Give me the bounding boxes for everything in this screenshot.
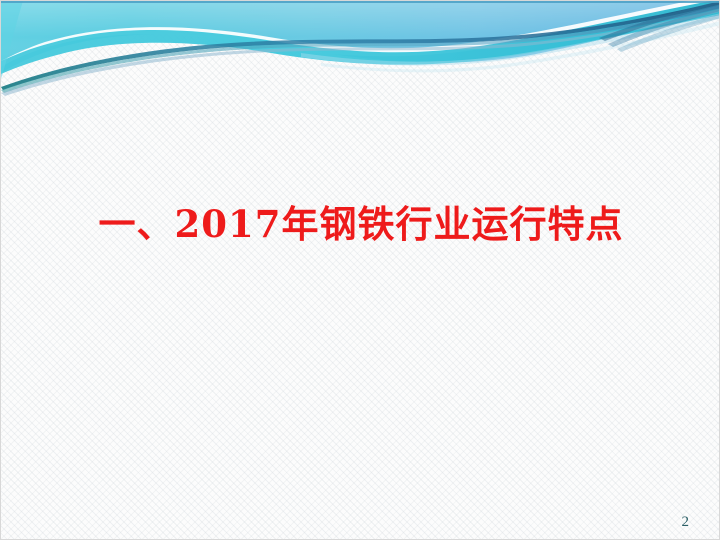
wave-banner — [1, 1, 720, 97]
title-block: 一、2017年钢铁行业运行特点 — [1, 197, 720, 251]
page-title: 一、2017年钢铁行业运行特点 — [99, 197, 624, 251]
page-number: 2 — [682, 513, 690, 531]
slide-canvas: 一、2017年钢铁行业运行特点 2 — [0, 0, 720, 540]
